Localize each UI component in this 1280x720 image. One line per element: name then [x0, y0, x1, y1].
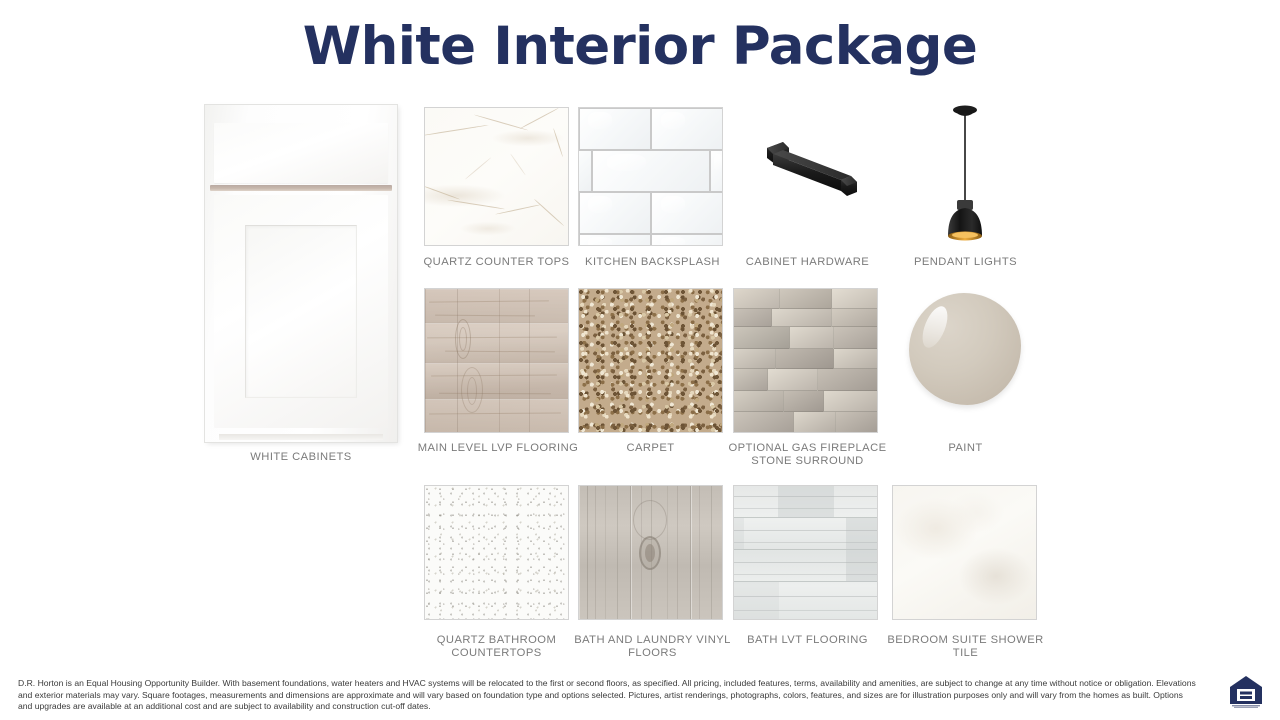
- legal-disclaimer: D.R. Horton is an Equal Housing Opportun…: [18, 678, 1198, 713]
- bar-pull-icon: [765, 130, 860, 200]
- label-kitchen-backsplash: KITCHEN BACKSPLASH: [565, 256, 740, 269]
- swatch-paint: [909, 293, 1021, 405]
- equal-housing-opportunity-logo: [1228, 672, 1264, 708]
- swatch-pendant-lights: [930, 100, 1000, 245]
- swatch-main-level-lvp-flooring: [424, 288, 569, 433]
- label-paint: PAINT: [878, 442, 1053, 455]
- swatch-kitchen-backsplash: [578, 107, 723, 246]
- label-carpet: CARPET: [578, 442, 723, 455]
- label-quartz-counter-tops: QUARTZ COUNTER TOPS: [409, 256, 584, 269]
- cabinet-base: [219, 434, 383, 440]
- label-white-cabinets: WHITE CABINETS: [205, 451, 397, 464]
- swatch-quartz-bathroom-countertops: [424, 485, 569, 620]
- label-pendant-lights: PENDANT LIGHTS: [878, 256, 1053, 269]
- swatch-carpet: [578, 288, 723, 433]
- cabinet-reveal-gap: [210, 185, 392, 191]
- label-bath-lvt-flooring: BATH LVT FLOORING: [720, 634, 895, 647]
- swatch-quartz-counter-tops: [424, 107, 569, 246]
- label-cabinet-hardware: CABINET HARDWARE: [720, 256, 895, 269]
- swatch-bedroom-suite-shower-tile: [892, 485, 1037, 620]
- label-optional-gas-fireplace-stone-surround: OPTIONAL GAS FIREPLACE STONE SURROUND: [720, 442, 895, 468]
- swatch-cabinet-hardware: [765, 130, 860, 200]
- cabinet-recessed-panel: [245, 225, 357, 398]
- label-bedroom-suite-shower-tile: BEDROOM SUITE SHOWER TILE: [878, 634, 1053, 660]
- pendant-light-icon: [930, 100, 1000, 245]
- cabinet-drawer-front: [214, 123, 388, 183]
- label-main-level-lvp-flooring: MAIN LEVEL LVP FLOORING: [409, 442, 587, 455]
- page-title: White Interior Package: [0, 16, 1280, 77]
- paint-gloss-highlight: [917, 303, 952, 351]
- swatch-bath-lvt-flooring: [733, 485, 878, 620]
- label-bath-and-laundry-vinyl-floors: BATH AND LAUNDRY VINYL FLOORS: [565, 634, 740, 660]
- label-quartz-bathroom-countertops: QUARTZ BATHROOM COUNTERTOPS: [409, 634, 584, 660]
- swatch-optional-gas-fireplace-stone-surround: [733, 288, 878, 433]
- interior-package-board: White Interior Package WHITE CABINETS QU…: [0, 0, 1280, 720]
- swatch-bath-and-laundry-vinyl-floors: [578, 485, 723, 620]
- swatch-white-cabinets: [205, 105, 397, 442]
- cabinet-door: [214, 195, 388, 428]
